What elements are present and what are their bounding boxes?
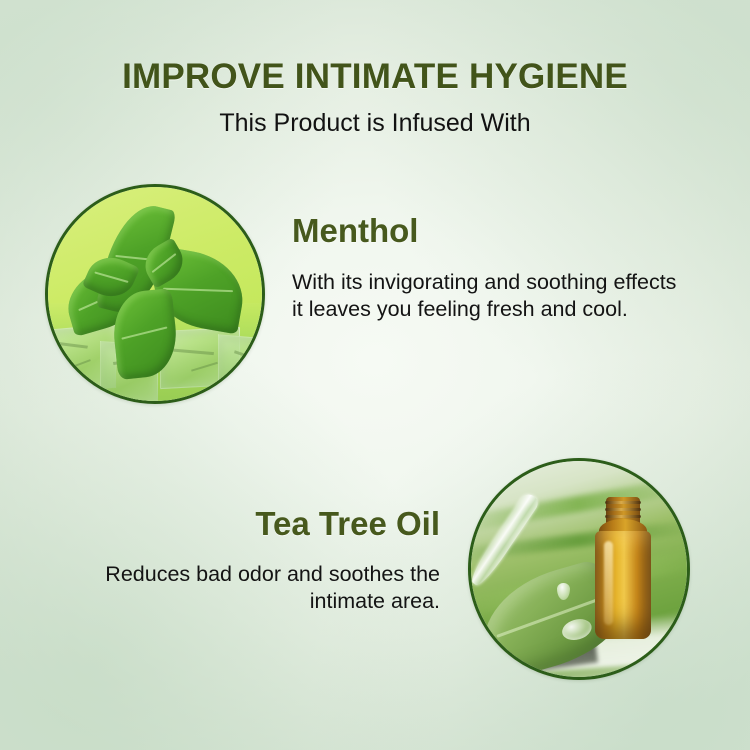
header: IMPROVE INTIMATE HYGIENE This Product is… <box>0 56 750 138</box>
ingredient-description-menthol: With its invigorating and soothing effec… <box>292 269 690 323</box>
menthol-photo <box>48 187 262 401</box>
product-infographic: IMPROVE INTIMATE HYGIENE This Product is… <box>0 0 750 750</box>
menthol-image-circle <box>45 184 265 404</box>
page-title: IMPROVE INTIMATE HYGIENE <box>0 56 750 98</box>
menthol-text-block: Menthol With its invigorating and soothi… <box>292 212 690 323</box>
tea-tree-oil-photo <box>471 461 687 677</box>
tea-tree-text-block: Tea Tree Oil Reduces bad odor and soothe… <box>30 505 440 615</box>
oil-droplet-icon <box>560 616 594 643</box>
ingredient-description-tea-tree-oil: Reduces bad odor and soothes the intimat… <box>30 561 440 615</box>
bottle-highlight <box>604 541 613 625</box>
ingredient-title-tea-tree-oil: Tea Tree Oil <box>30 505 440 543</box>
oil-bottle-icon <box>595 497 651 639</box>
tea-tree-oil-image-circle <box>468 458 690 680</box>
ingredient-title-menthol: Menthol <box>292 212 690 250</box>
page-subtitle: This Product is Infused With <box>0 108 750 138</box>
